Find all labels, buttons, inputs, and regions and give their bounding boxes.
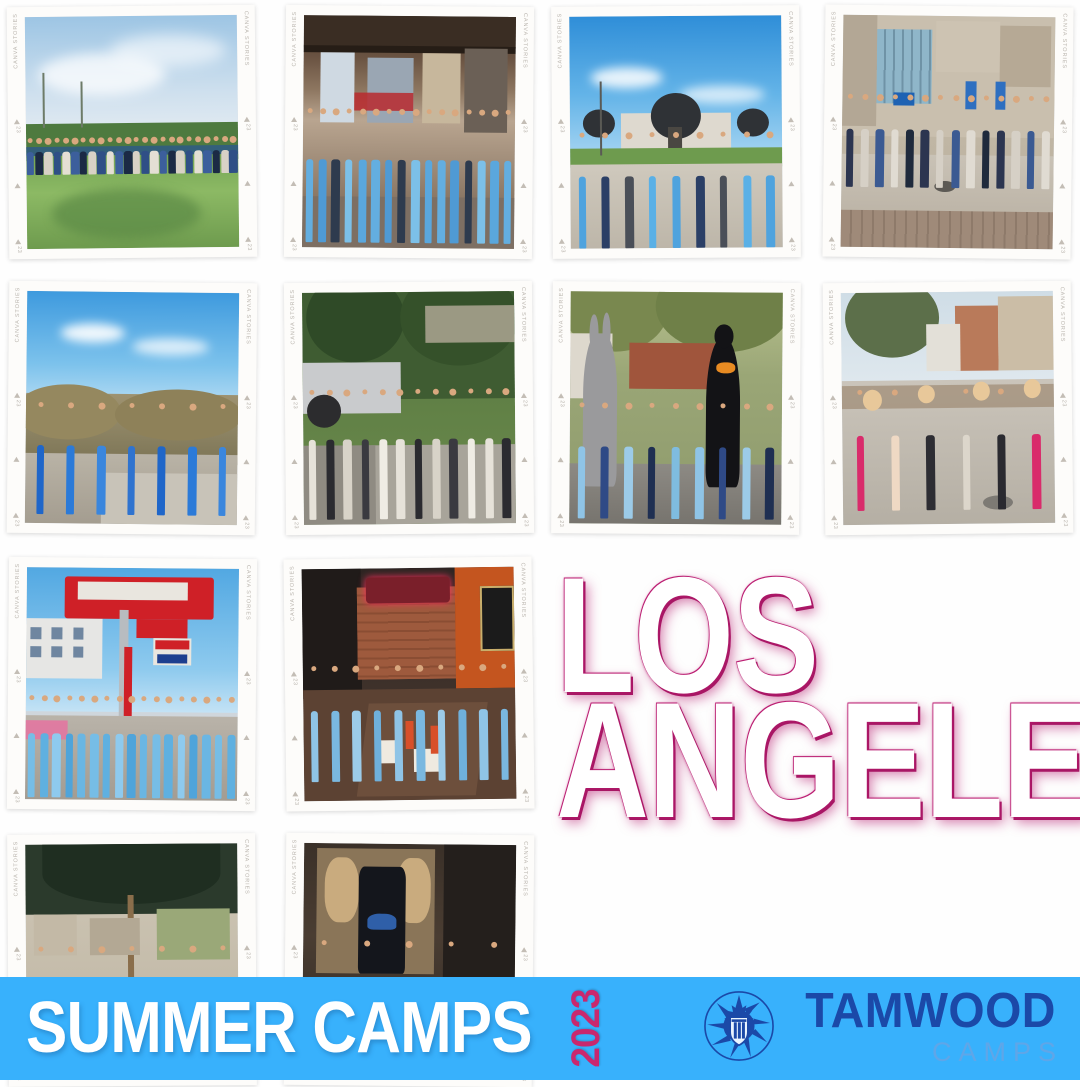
film-frame-marker <box>788 459 794 464</box>
film-rail-right: CANVA STORIES 23 23 <box>781 5 801 257</box>
film-frame-marker <box>244 735 250 740</box>
film-rail-label: CANVA STORIES <box>1061 13 1068 69</box>
film-frame-marker: 23 <box>15 239 21 253</box>
film-rail-left: CANVA STORIES 23 23 <box>7 557 27 809</box>
film-rail-right: CANVA STORIES 23 23 <box>513 556 534 808</box>
film-frame-marker <box>788 182 794 187</box>
photo-collage: CANVA STORIES 23 23 CANVA STORIES 23 23 <box>0 0 1080 1010</box>
photo-frame-inner <box>569 291 783 524</box>
photo-image <box>302 291 516 525</box>
film-rail-label: CANVA STORIES <box>1059 287 1066 343</box>
film-rail-label: CANVA STORIES <box>831 11 838 67</box>
brand-subtitle: CAMPS <box>932 1036 1063 1070</box>
film-rail-label: CANVA STORIES <box>557 13 563 69</box>
film-frame-marker: 23 <box>829 236 835 250</box>
brand-lockup: TAMWOOD CAMPS <box>702 987 1080 1070</box>
photo-image <box>841 15 1056 250</box>
photo-frame-inner <box>841 15 1056 250</box>
film-rail-label: CANVA STORIES <box>522 841 529 897</box>
photo-image <box>841 291 1055 525</box>
film-frame-marker: 23 <box>245 237 251 251</box>
photo-image <box>302 567 517 802</box>
film-frame-marker <box>1061 457 1067 462</box>
photo-frame-inner <box>302 567 517 802</box>
photo-frame-inner <box>569 15 783 248</box>
film-frame-marker: 23 <box>244 945 250 959</box>
film-frame-marker: 23 <box>1060 119 1066 133</box>
film-frame-marker <box>292 736 298 741</box>
film-frame-marker <box>291 181 297 186</box>
film-rail-label: CANVA STORIES <box>292 839 299 895</box>
film-frame-marker <box>558 458 564 463</box>
film-rail-left: CANVA STORIES 23 23 <box>551 281 571 533</box>
polaroid-photo: CANVA STORIES 23 23 CANVA STORIES 23 23 <box>551 5 801 259</box>
film-frame-marker <box>521 457 527 462</box>
film-rail-right: CANVA STORIES 23 23 <box>514 7 534 259</box>
film-frame-marker: 23 <box>789 237 795 251</box>
film-rail-label: CANVA STORIES <box>290 565 297 621</box>
photo-frame-inner <box>25 291 239 525</box>
film-frame-marker: 23 <box>244 395 250 409</box>
film-rail-label: CANVA STORIES <box>243 11 250 67</box>
film-rail-label: CANVA STORIES <box>243 839 249 895</box>
film-rail-right: CANVA STORIES 23 23 <box>514 281 534 533</box>
polaroid-photo: CANVA STORIES 23 23 CANVA STORIES 23 23 <box>284 5 534 259</box>
film-frame-marker: 23 <box>243 791 249 805</box>
film-rail-label: CANVA STORIES <box>788 289 794 345</box>
brand-text-block: TAMWOOD CAMPS <box>792 987 1056 1070</box>
polaroid-photo: CANVA STORIES 23 23 CANVA STORIES 23 23 <box>7 281 258 536</box>
film-frame-marker: 23 <box>14 393 20 407</box>
film-frame-marker: 23 <box>244 117 250 131</box>
film-frame-marker: 23 <box>1061 513 1067 527</box>
film-frame-marker: 23 <box>13 513 19 527</box>
film-frame-marker: 23 <box>291 395 297 409</box>
banner-left-group: SUMMER CAMPS 2023 <box>0 986 606 1071</box>
polaroid-photo: CANVA STORIES 23 23 CANVA STORIES 23 23 <box>284 281 534 535</box>
film-frame-marker: 23 <box>557 513 563 527</box>
film-rail-label: CANVA STORIES <box>13 13 20 69</box>
film-frame-marker <box>558 183 564 188</box>
photo-image <box>25 291 239 525</box>
film-frame-marker <box>14 733 20 738</box>
film-frame-marker: 23 <box>830 395 836 409</box>
summer-camps-headline: SUMMER CAMPS <box>26 992 532 1064</box>
photo-image <box>569 291 783 524</box>
film-frame-marker: 23 <box>522 513 528 527</box>
film-rail-label: CANVA STORIES <box>15 287 22 343</box>
film-frame-marker: 23 <box>521 119 527 133</box>
tamwood-crest-emblem <box>702 989 776 1068</box>
film-frame-marker: 23 <box>244 671 250 685</box>
film-frame-marker <box>15 184 21 189</box>
film-rail-right: CANVA STORIES 23 23 <box>1052 7 1073 259</box>
photo-image <box>569 15 783 248</box>
film-frame-marker: 23 <box>521 668 527 682</box>
film-rail-label: CANVA STORIES <box>829 289 836 345</box>
film-frame-marker: 23 <box>14 947 20 961</box>
film-frame-marker: 23 <box>558 393 564 407</box>
film-frame-marker: 23 <box>787 515 793 529</box>
film-rail-label: CANVA STORIES <box>292 11 298 67</box>
film-frame-marker <box>243 460 249 465</box>
film-frame-marker: 23 <box>290 237 296 251</box>
film-rail-label: CANVA STORIES <box>787 11 793 67</box>
page-title: LOS ANGELES <box>556 566 1056 829</box>
film-frame-marker: 23 <box>788 395 794 409</box>
film-rail-right: CANVA STORIES 23 23 <box>781 283 801 535</box>
film-frame-marker: 23 <box>1060 393 1066 407</box>
film-rail-label: CANVA STORIES <box>522 13 528 69</box>
title-line-angeles: ANGELES <box>556 691 946 830</box>
film-frame-marker: 23 <box>559 239 565 253</box>
film-frame-marker <box>245 181 251 186</box>
photo-frame-inner <box>302 291 516 525</box>
film-rail-left: CANVA STORIES 23 23 <box>551 7 571 259</box>
film-frame-marker: 23 <box>291 671 297 685</box>
photo-frame-inner <box>25 15 239 249</box>
polaroid-photo: CANVA STORIES 23 23 CANVA STORIES 23 23 <box>7 557 257 811</box>
film-frame-marker: 23 <box>521 393 527 407</box>
photo-image <box>25 567 239 801</box>
film-frame-marker <box>1059 184 1065 189</box>
polaroid-photo: CANVA STORIES 23 23 CANVA STORIES 23 23 <box>823 281 1074 536</box>
photo-frame-inner <box>302 15 516 249</box>
film-frame-marker <box>522 733 528 738</box>
film-rail-right: CANVA STORIES 23 23 <box>237 283 258 535</box>
film-frame-marker: 23 <box>788 117 794 131</box>
film-frame-marker: 23 <box>243 515 249 529</box>
film-frame-marker <box>291 459 297 464</box>
brand-name: TAMWOOD <box>805 987 1056 1036</box>
film-frame-marker <box>831 460 837 465</box>
film-frame-marker: 23 <box>521 947 527 961</box>
film-rail-label: CANVA STORIES <box>15 563 21 619</box>
film-frame-marker: 23 <box>292 515 298 529</box>
film-frame-marker: 23 <box>831 515 837 529</box>
film-frame-marker <box>829 181 835 186</box>
film-frame-marker: 23 <box>291 117 297 131</box>
film-frame-marker: 23 <box>13 789 19 803</box>
bottom-banner: SUMMER CAMPS 2023 <box>0 977 1080 1080</box>
polaroid-photo: CANVA STORIES 23 23 CANVA STORIES 23 23 <box>7 5 258 260</box>
film-rail-right: CANVA STORIES 23 23 <box>237 5 258 257</box>
film-frame-marker: 23 <box>830 116 836 130</box>
film-rail-right: CANVA STORIES 23 23 <box>237 559 257 811</box>
film-rail-right: CANVA STORIES 23 23 <box>1053 281 1074 533</box>
film-frame-marker: 23 <box>292 791 298 805</box>
film-frame-marker: 23 <box>291 945 297 959</box>
film-frame-marker: 23 <box>14 119 20 133</box>
polaroid-photo: CANVA STORIES 23 23 CANVA STORIES 23 23 <box>822 4 1073 259</box>
film-frame-marker: 23 <box>522 788 528 802</box>
film-rail-label: CANVA STORIES <box>520 563 527 619</box>
film-frame-marker <box>521 183 527 188</box>
film-frame-marker: 23 <box>1059 239 1065 253</box>
photo-frame-inner <box>25 567 239 801</box>
film-rail-label: CANVA STORIES <box>245 289 252 345</box>
film-rail-label: CANVA STORIES <box>13 841 19 897</box>
film-rail-label: CANVA STORIES <box>245 565 251 621</box>
film-rail-left: CANVA STORIES 23 23 <box>284 283 304 535</box>
film-frame-marker: 23 <box>558 119 564 133</box>
photo-image <box>25 15 239 249</box>
photo-frame-inner <box>841 291 1055 525</box>
film-frame-marker: 23 <box>14 669 20 683</box>
film-rail-label: CANVA STORIES <box>558 287 564 343</box>
film-rail-label: CANVA STORIES <box>520 287 526 343</box>
film-rail-label: CANVA STORIES <box>290 289 296 345</box>
year-badge: 2023 <box>566 989 606 1067</box>
film-frame-marker <box>13 457 19 462</box>
film-rail-left: CANVA STORIES 23 23 <box>284 5 304 257</box>
photo-image <box>302 15 516 249</box>
polaroid-photo: CANVA STORIES 23 23 CANVA STORIES 23 23 <box>551 281 801 535</box>
film-frame-marker: 23 <box>520 239 526 253</box>
polaroid-photo: CANVA STORIES 23 23 CANVA STORIES 23 23 <box>283 556 534 811</box>
